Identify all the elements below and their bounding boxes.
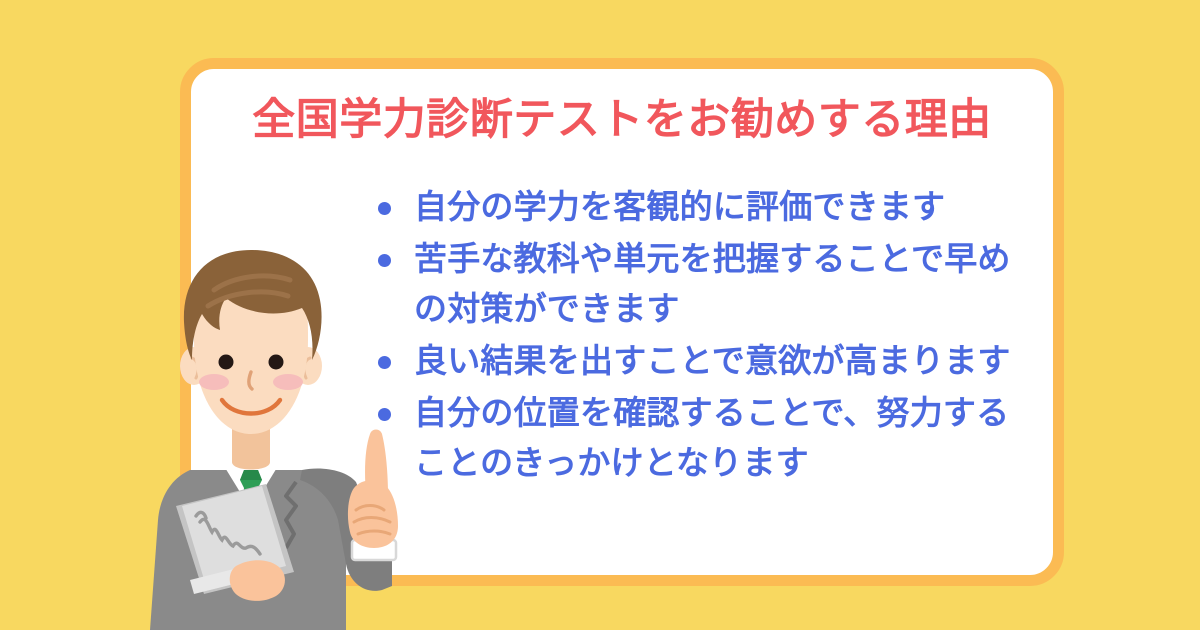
bullet-dot-icon (378, 356, 391, 369)
clipboard-clip-knob (261, 585, 275, 599)
list-item: 苦手な教科や単元を把握することで早めの対策ができます (370, 234, 1030, 334)
list-item-label: 自分の学力を客観的に評価できます (414, 182, 1030, 232)
list-item: 自分の位置を確認することで、努力することのきっかけとなります (370, 388, 1030, 488)
list-item-label: 良い結果を出すことで意欲が高まります (414, 336, 1030, 386)
bullet-dot-icon (378, 202, 391, 215)
list-item-label: 自分の位置を確認することで、努力することのきっかけとなります (414, 388, 1030, 488)
bullet-dot-icon (378, 408, 391, 421)
reasons-list: 自分の学力を客観的に評価できます 苦手な教科や単元を把握することで早めの対策がで… (370, 182, 1030, 490)
list-item: 自分の学力を客観的に評価できます (370, 182, 1030, 232)
page-title: 全国学力診断テストをお勧めする理由 (190, 92, 1054, 148)
list-item-label: 苦手な教科や単元を把握することで早めの対策ができます (414, 234, 1030, 334)
list-item: 良い結果を出すことで意欲が高まります (370, 336, 1030, 386)
poster-canvas: 全国学力診断テストをお勧めする理由 自分の学力を客観的に評価できます 苦手な教科… (0, 0, 1200, 630)
bullet-dot-icon (378, 254, 391, 267)
